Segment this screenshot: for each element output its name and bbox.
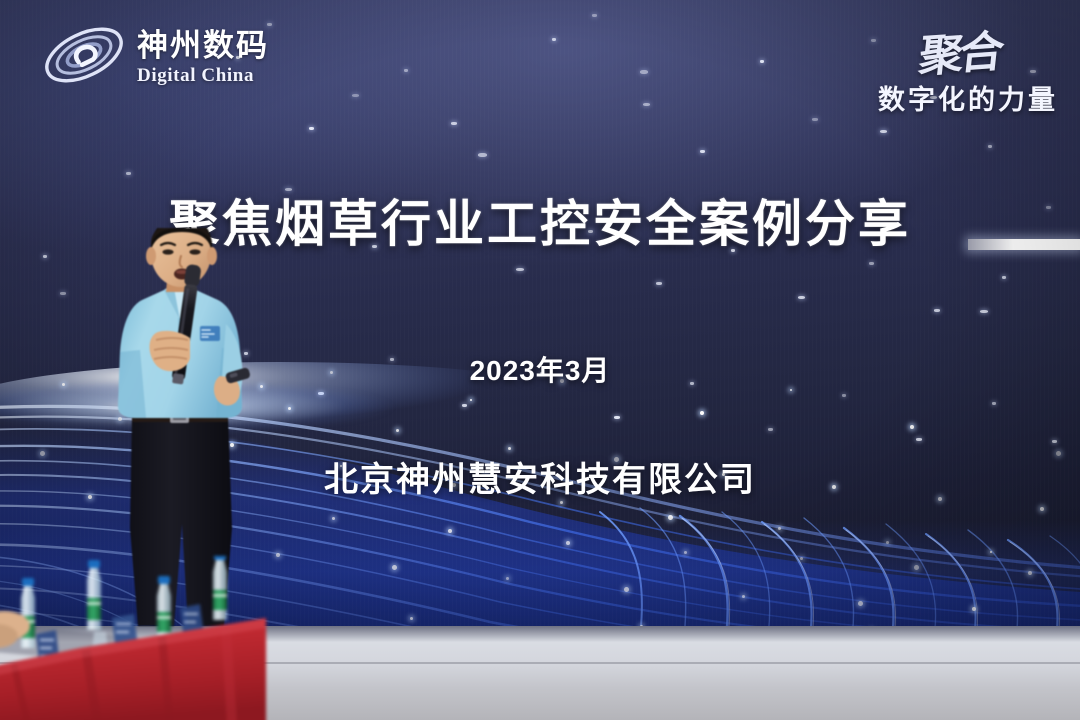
digital-china-logo: 神州数码 Digital China [40,16,290,94]
brand-topright: 聚合 数字化的力量 [796,18,1058,118]
brand-calligraphy: 聚合 [916,15,1004,84]
spiral-swirl-icon [40,19,128,91]
logo-english-text: Digital China [137,66,269,85]
foreground-table [0,556,266,720]
logo-chinese-text: 神州数码 [137,30,269,61]
conference-stage-photo: 神州数码 Digital China 聚合 数字化的力量 聚焦烟草行业工控安全案… [0,0,1080,720]
